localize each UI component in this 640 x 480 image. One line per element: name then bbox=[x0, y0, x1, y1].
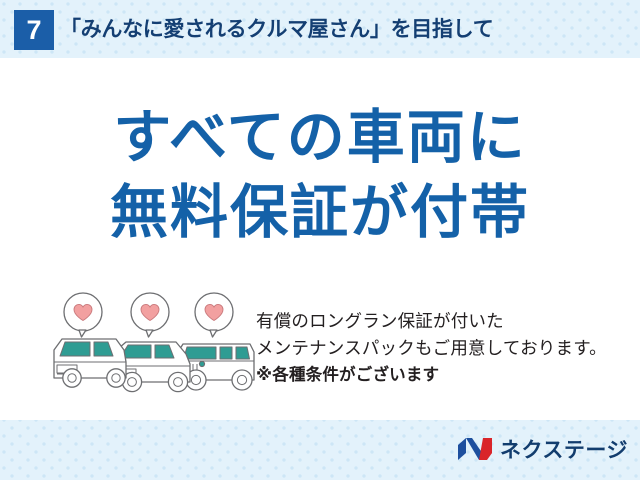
minivan-icon bbox=[54, 339, 126, 387]
cars-and-hearts-svg bbox=[50, 290, 262, 402]
three-cars-illustration bbox=[50, 290, 262, 402]
brand-logo: ネクステージ bbox=[457, 432, 628, 466]
headline-line-2: 無料保証が付帯 bbox=[0, 175, 640, 250]
n-logo-icon bbox=[457, 436, 493, 462]
content-panel: すべての車両に 無料保証が付帯 bbox=[0, 58, 640, 420]
section-number-badge: 7 bbox=[14, 10, 54, 50]
banner-header: 7 「みんなに愛されるクルマ屋さん」を目指して bbox=[0, 0, 640, 58]
promo-banner: 7 「みんなに愛されるクルマ屋さん」を目指して すべての車両に 無料保証が付帯 bbox=[0, 0, 640, 480]
brand-name: ネクステージ bbox=[500, 434, 628, 464]
banner-footer: ネクステージ bbox=[0, 420, 640, 480]
body-copy: 有償のロングラン保証が付いた メンテナンスパックもご用意しております。 ※各種条… bbox=[256, 308, 636, 389]
body-line-1: 有償のロングラン保証が付いた bbox=[256, 308, 636, 335]
headline: すべての車両に 無料保証が付帯 bbox=[0, 100, 640, 250]
body-note: ※各種条件がございます bbox=[256, 362, 636, 389]
body-line-2: メンテナンスパックもご用意しております。 bbox=[256, 335, 636, 362]
headline-line-1: すべての車両に bbox=[0, 100, 640, 175]
header-title: 「みんなに愛されるクルマ屋さん」を目指して bbox=[60, 14, 493, 46]
